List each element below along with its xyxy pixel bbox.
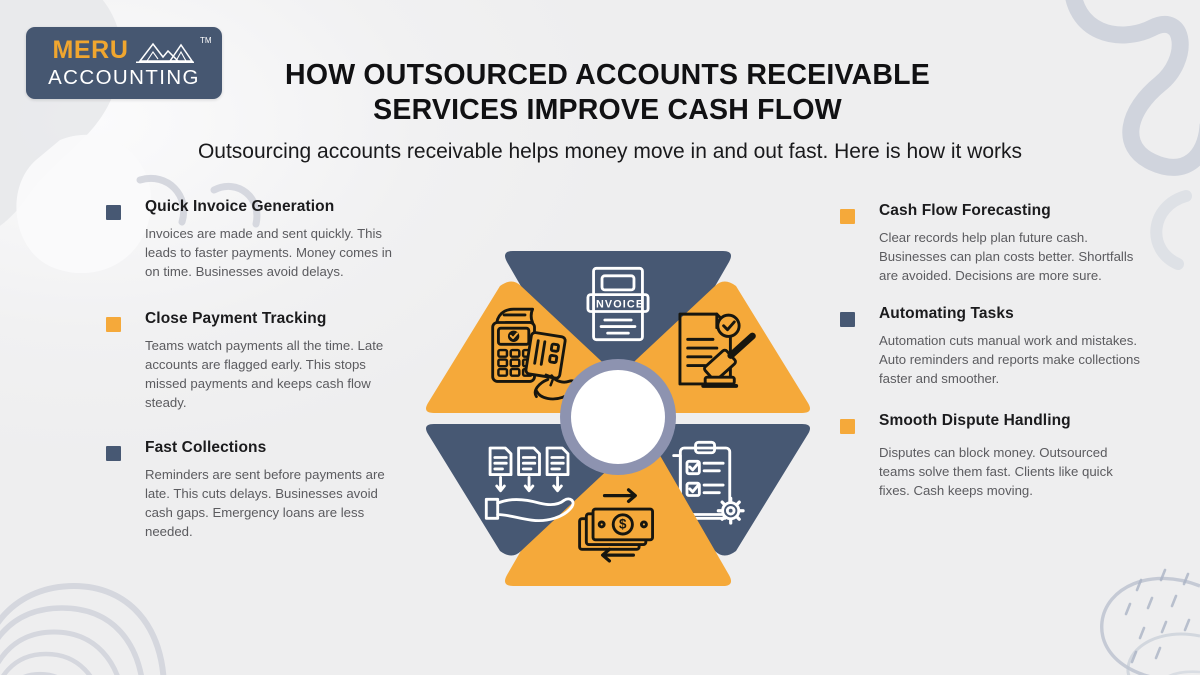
feature-body: Disputes can block money. Outsourced tea… <box>879 443 1140 500</box>
logo-top-row: MERU TM <box>52 38 195 63</box>
feature-title: Smooth Dispute Handling <box>879 412 1140 431</box>
ellipse-swirl-decoration-bottom-right <box>1102 570 1200 675</box>
bullet-square-icon <box>106 317 121 332</box>
feature-body: Clear records help plan future cash. Bus… <box>879 228 1140 285</box>
feature-block-automating-tasks: Automating Tasks Automation cuts manual … <box>840 305 1140 388</box>
feature-title: Cash Flow Forecasting <box>879 202 1140 221</box>
wheel-svg: INVOICE <box>418 196 818 616</box>
feature-block-smooth-dispute-handling: Smooth Dispute Handling Disputes can blo… <box>840 412 1140 500</box>
hexagon-wheel-diagram: INVOICE <box>418 196 818 616</box>
feature-title: Automating Tasks <box>879 305 1140 324</box>
right-feature-column: Cash Flow Forecasting Clear records help… <box>840 202 1140 524</box>
bullet-square-icon <box>106 205 121 220</box>
page-subtitle: Outsourcing accounts receivable helps mo… <box>120 138 1100 165</box>
wheel-center-hub <box>560 359 676 475</box>
bullet-square-icon <box>106 446 121 461</box>
page-title: HOW OUTSOURCED ACCOUNTS RECEIVABLE SERVI… <box>240 58 975 129</box>
bullet-square-icon <box>840 312 855 327</box>
feature-body: Reminders are sent before payments are l… <box>145 465 406 542</box>
feature-block-quick-invoice-generation: Quick Invoice Generation Invoices are ma… <box>106 198 406 281</box>
logo-primary-text: MERU <box>52 38 128 63</box>
feature-title: Fast Collections <box>145 439 406 458</box>
mountain-logo-icon <box>134 39 196 65</box>
feature-body: Automation cuts manual work and mistakes… <box>879 331 1140 388</box>
svg-text:INVOICE: INVOICE <box>592 298 644 310</box>
bullet-square-icon <box>840 419 855 434</box>
feature-block-cash-flow-forecasting: Cash Flow Forecasting Clear records help… <box>840 202 1140 285</box>
trademark-symbol: TM <box>200 36 212 45</box>
infographic-canvas: MERU TM ACCOUNTING HOW OUTSOURCED ACCOUN… <box>0 0 1200 675</box>
feature-block-fast-collections: Fast Collections Reminders are sent befo… <box>106 439 406 541</box>
feature-body: Invoices are made and sent quickly. This… <box>145 224 406 281</box>
svg-text:$: $ <box>619 517 627 532</box>
brand-logo[interactable]: MERU TM ACCOUNTING <box>26 27 222 99</box>
feature-body: Teams watch payments all the time. Late … <box>145 336 406 413</box>
feature-block-close-payment-tracking: Close Payment Tracking Teams watch payme… <box>106 310 406 412</box>
squiggle-decoration-secondary <box>1156 196 1186 264</box>
logo-secondary-text: ACCOUNTING <box>48 68 200 89</box>
feature-title: Close Payment Tracking <box>145 310 406 329</box>
left-feature-column: Quick Invoice Generation Invoices are ma… <box>106 198 406 565</box>
bullet-square-icon <box>840 209 855 224</box>
concentric-arcs-decoration-bottom-left <box>0 586 164 675</box>
feature-title: Quick Invoice Generation <box>145 198 406 217</box>
